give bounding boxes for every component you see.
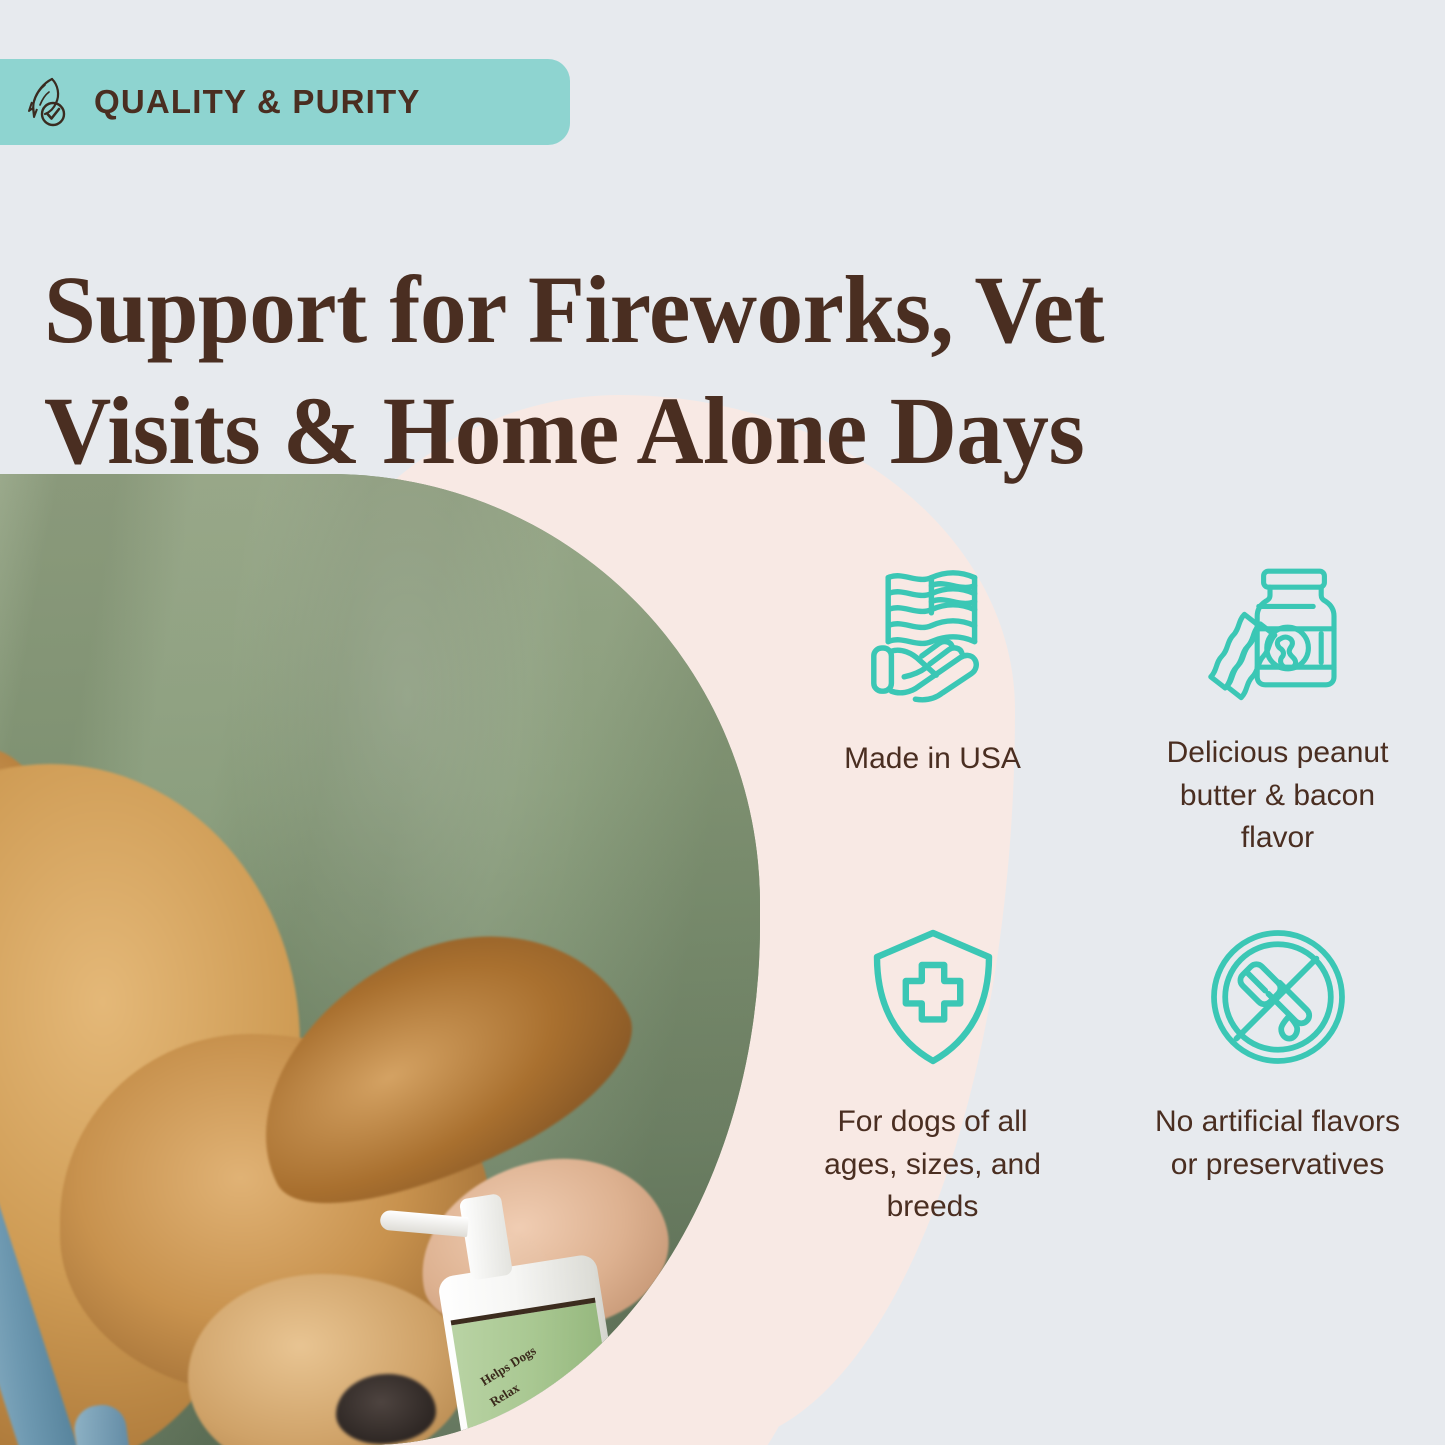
feature-label-no-artificial: No artificial flavors or preservatives [1148,1101,1408,1186]
headline-line-1: Support for Fireworks, Vet [44,250,1368,371]
dog-nose [336,1374,436,1444]
feature-grid: Made in USA De [760,552,1445,1282]
no-dropper-icon [1198,917,1358,1077]
headline-line-2: Visits & Home Alone Days [44,371,1368,492]
feature-peanut-butter-bacon: Delicious peanut butter & bacon flavor [1105,552,1445,917]
photo-inner: Helps Dogs Relax Calming Oil soothing bl… [0,474,760,1445]
lifestyle-photo: Helps Dogs Relax Calming Oil soothing bl… [0,474,760,1445]
quality-purity-label: QUALITY & PURITY [94,83,421,121]
flag-in-hand-icon [853,552,1013,712]
feature-label-peanut-butter-bacon: Delicious peanut butter & bacon flavor [1148,732,1408,860]
peanut-butter-jar-bacon-icon [1198,552,1358,712]
feature-all-dogs: For dogs of all ages, sizes, and breeds [760,917,1105,1282]
feature-no-artificial: No artificial flavors or preservatives [1105,917,1445,1282]
infographic-canvas: QUALITY & PURITY Support for Fireworks, … [0,0,1445,1445]
feature-made-in-usa: Made in USA [760,552,1105,917]
leaf-check-icon [22,75,72,129]
shield-medical-cross-icon [853,917,1013,1077]
page-title: Support for Fireworks, Vet Visits & Home… [44,250,1368,492]
feature-label-all-dogs: For dogs of all ages, sizes, and breeds [803,1101,1063,1229]
feature-label-made-in-usa: Made in USA [844,738,1021,781]
quality-purity-badge: QUALITY & PURITY [0,59,570,145]
